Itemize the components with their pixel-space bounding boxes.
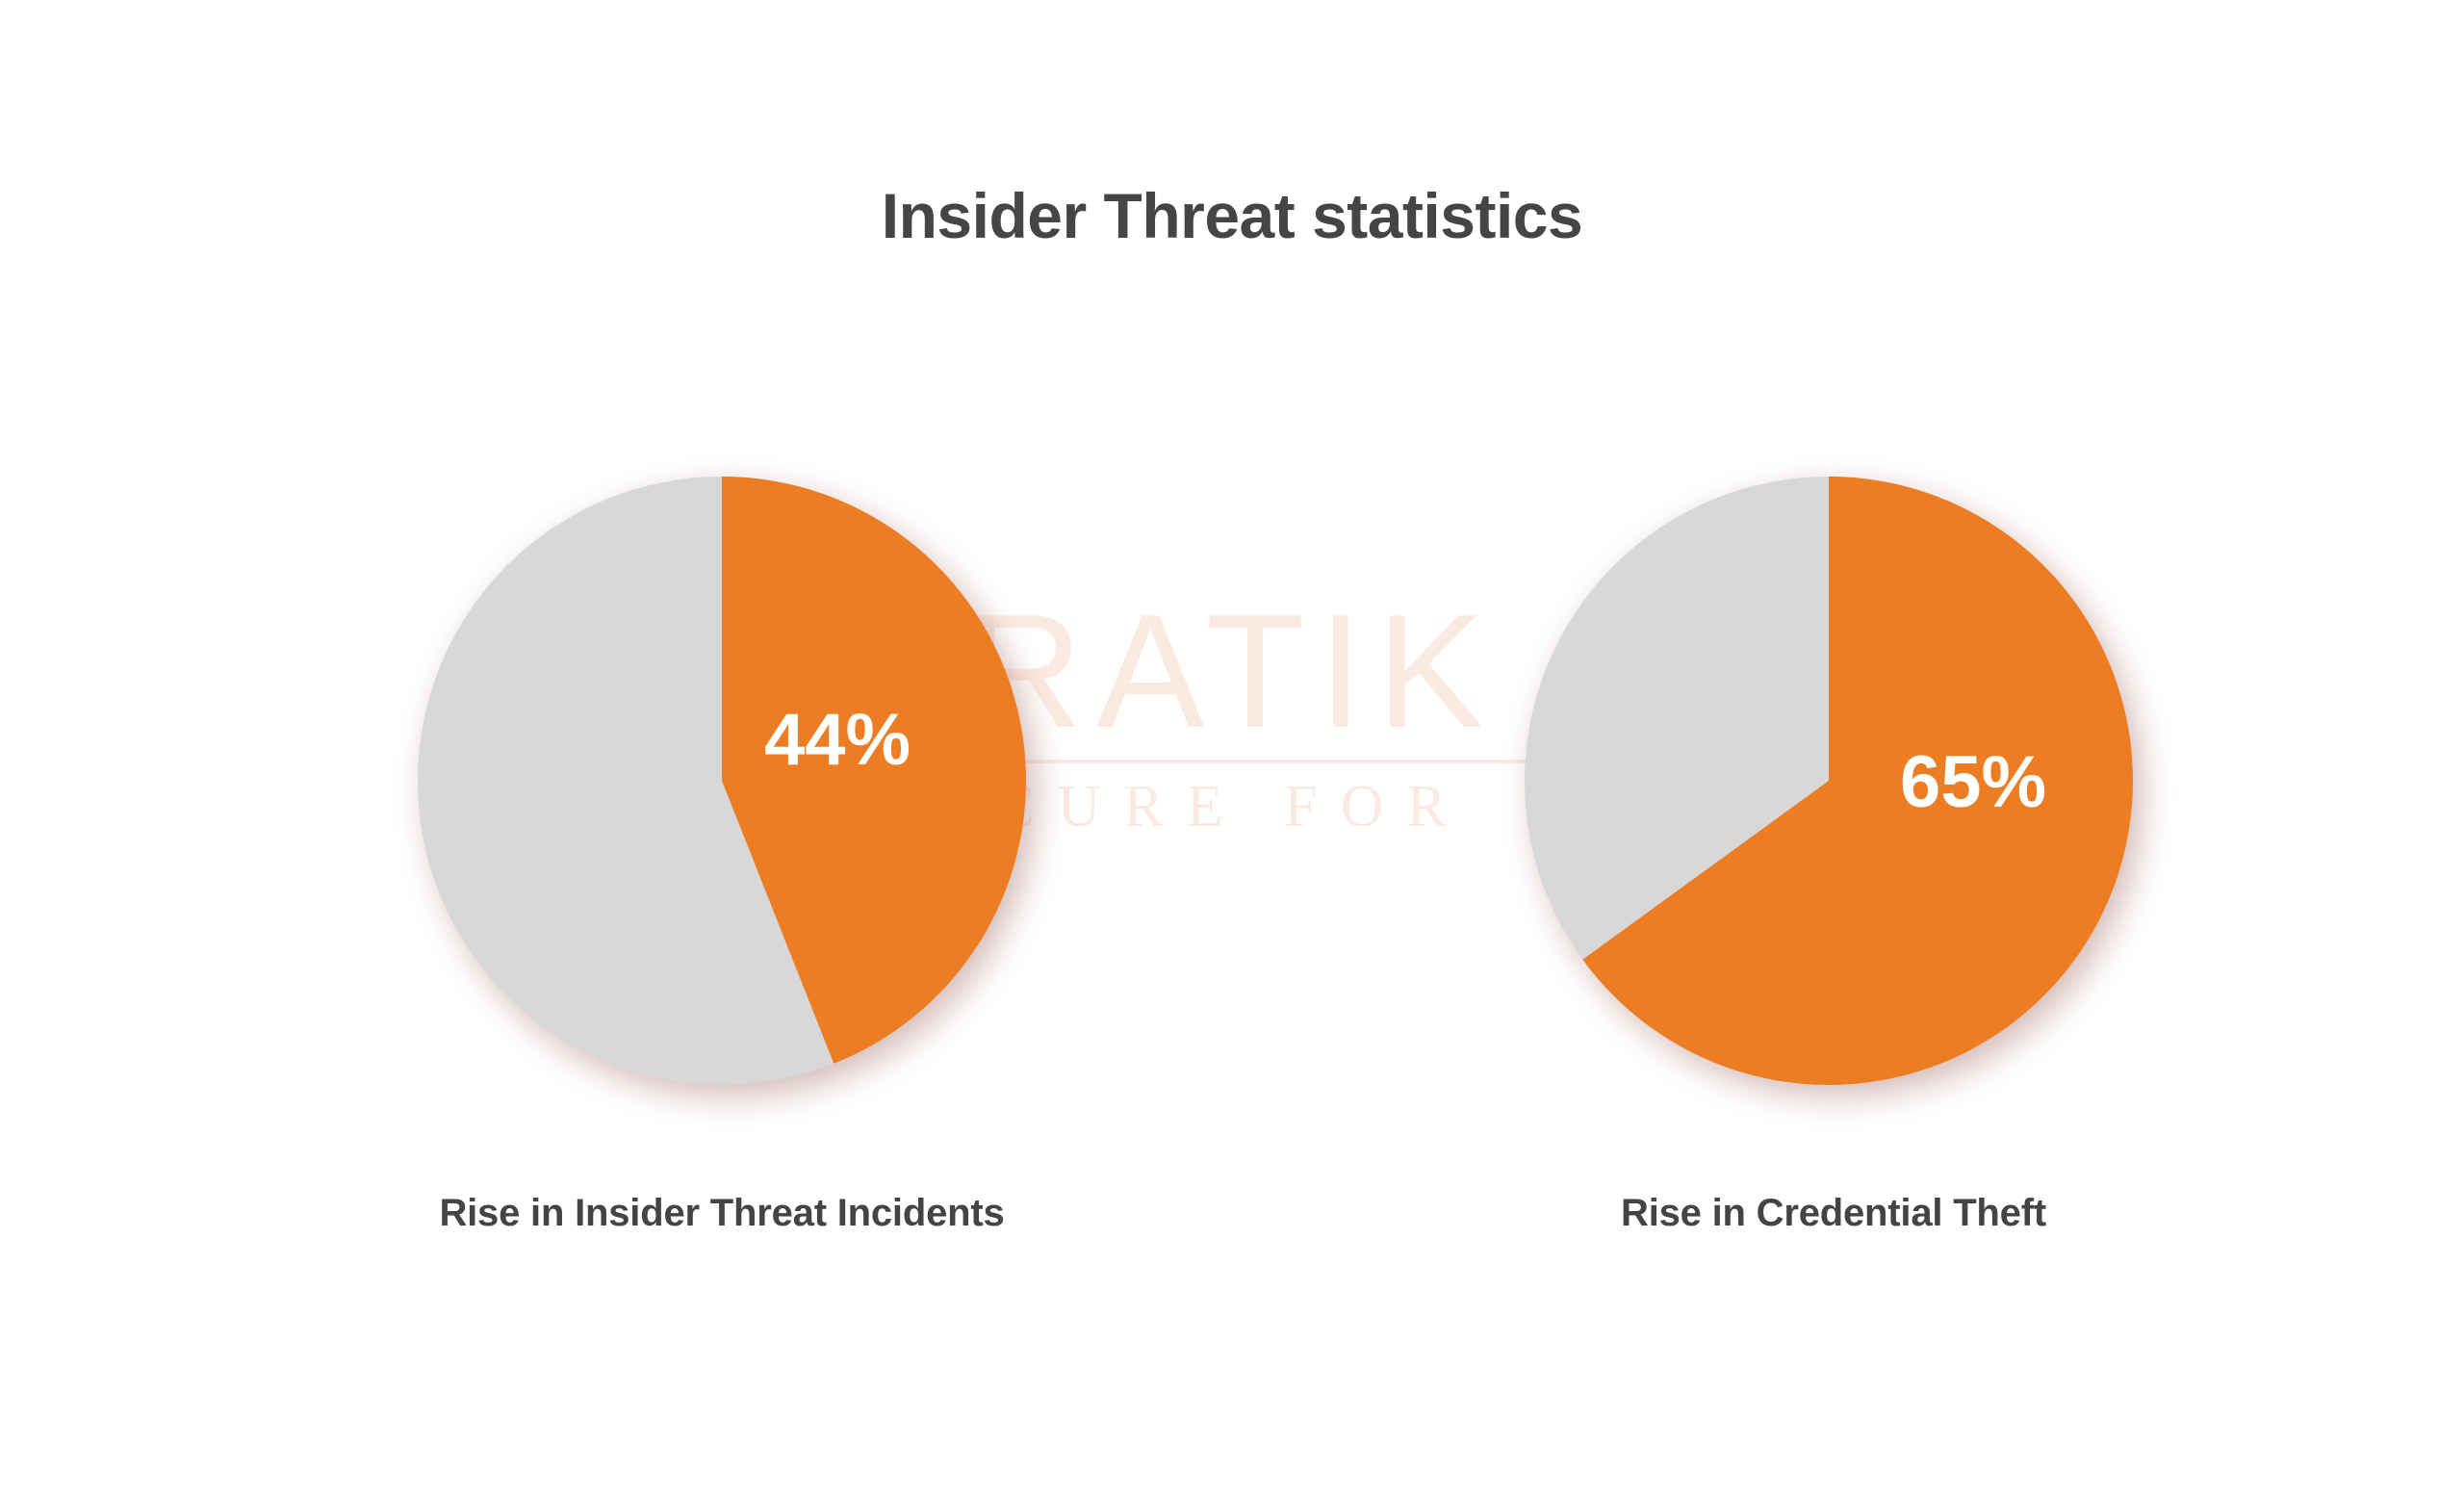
chart-canvas: RATIK CURE FOR Insider Threat statistics… [0,0,2464,1497]
pie-chart-2-caption: Rise in Credential Theft [1328,1192,2339,1235]
pie-chart-1-caption: Rise in Insider Threat Incidents [192,1192,1251,1235]
pie-chart-1: 44% [418,477,1026,1085]
pie-chart-1-svg [418,477,1026,1085]
page-title: Insider Threat statistics [0,179,2464,252]
pie-chart-2-value-label: 65% [1900,746,2046,819]
pie-chart-2: 65% [1525,477,2133,1085]
pie-chart-1-value-label: 44% [764,704,911,777]
